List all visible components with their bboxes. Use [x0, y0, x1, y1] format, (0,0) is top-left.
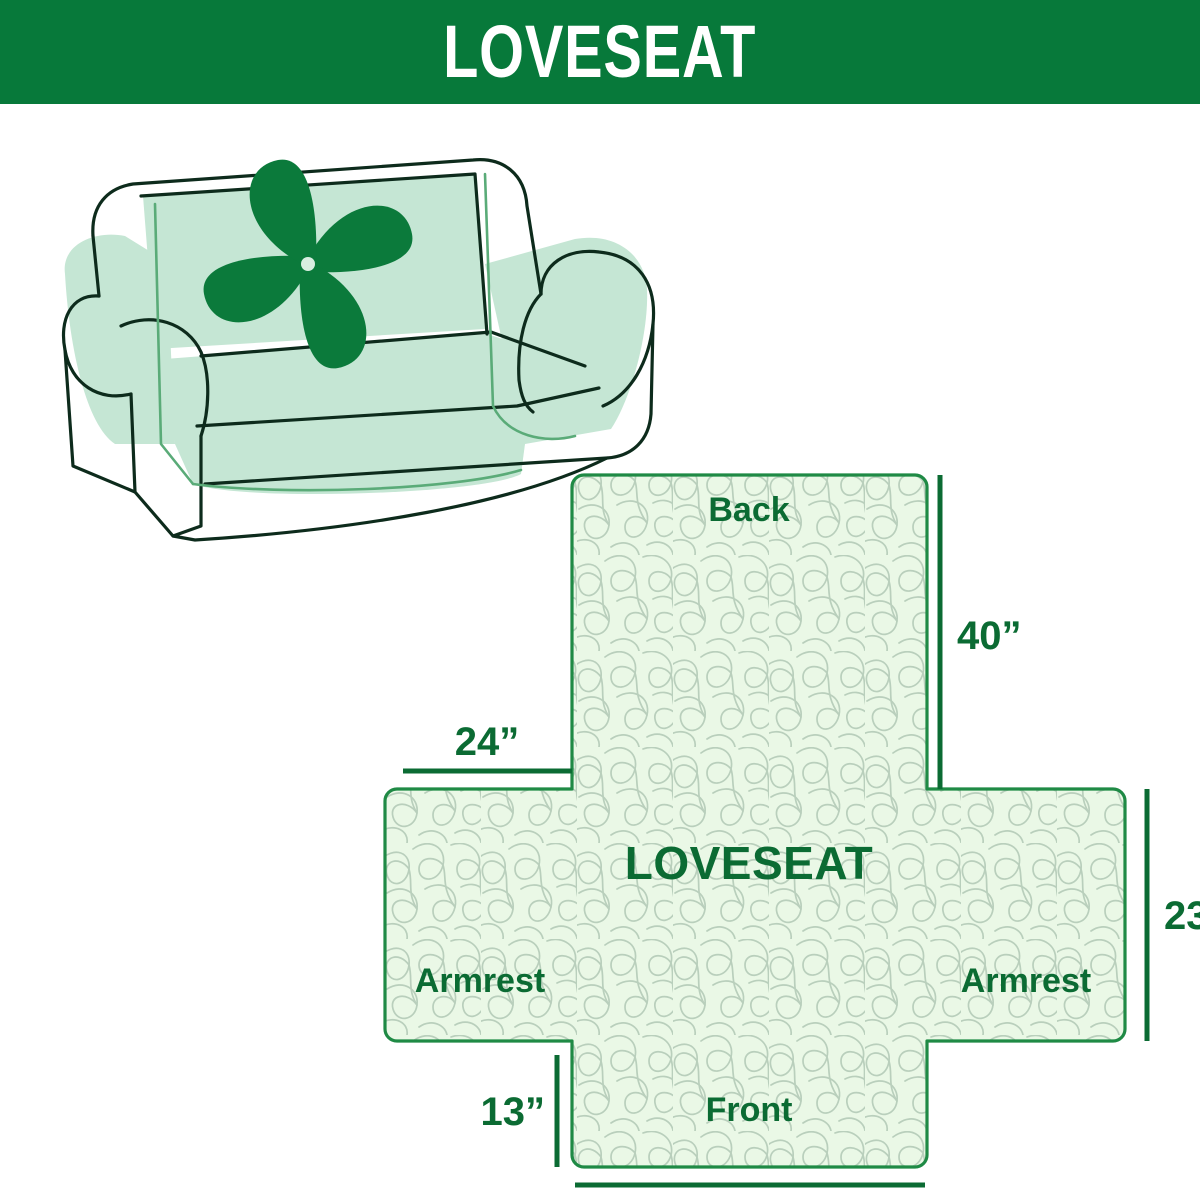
dimension-seat-depth: 23”: [1147, 789, 1200, 1041]
panel-label-armrest-left: Armrest: [415, 962, 545, 1000]
seat-cushion-fill: [165, 334, 595, 444]
page-title: LOVESEAT: [443, 15, 756, 89]
dimension-back-height-value: 40”: [957, 614, 1022, 658]
dimension-overall-width: 46: [575, 1185, 925, 1200]
dimension-armrest-width-value: 24”: [455, 720, 520, 764]
panel-label-front: Front: [706, 1091, 793, 1129]
dimension-seat-depth-value: 23”: [1164, 894, 1200, 938]
dimension-armrest-width: 24”: [403, 720, 572, 771]
panel-label-armrest-right: Armrest: [961, 962, 1091, 1000]
logo-hub: [301, 257, 315, 271]
panel-label-center: LOVESEAT: [625, 837, 874, 889]
dimension-diagram: Back LOVESEAT Armrest Armrest Front 40” …: [385, 459, 1200, 1199]
cover-cross-shape: [385, 475, 1125, 1167]
panel-label-back: Back: [708, 491, 789, 529]
illustration-canvas: Back LOVESEAT Armrest Armrest Front 40” …: [0, 104, 1200, 1200]
header-banner: LOVESEAT: [0, 0, 1200, 104]
dimension-front-height-value: 13”: [481, 1090, 546, 1134]
dimension-back-height: 40”: [940, 475, 1022, 789]
dimension-overall-width-value: 46: [728, 1194, 773, 1200]
dimension-front-height: 13”: [481, 1055, 558, 1167]
